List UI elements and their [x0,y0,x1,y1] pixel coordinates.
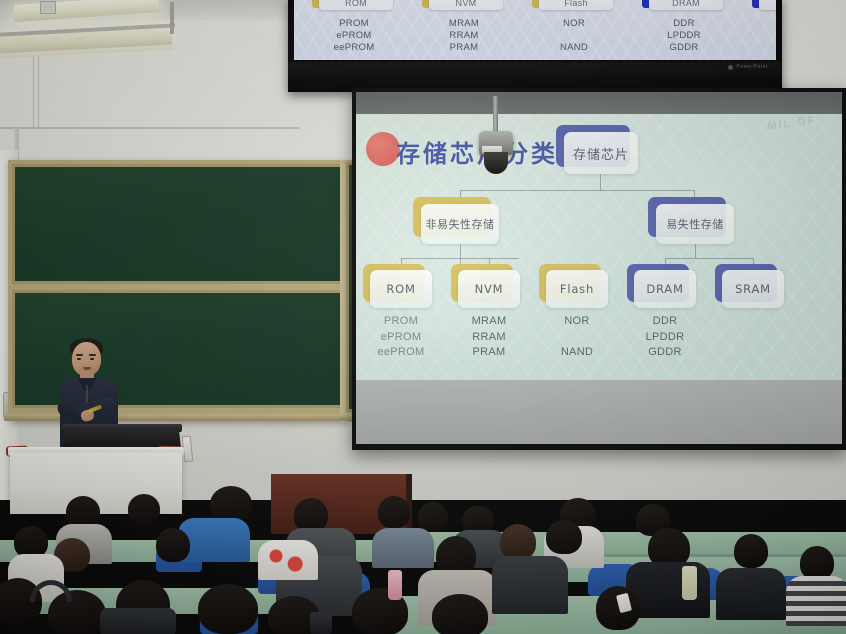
tree-leaf-sublabels: MRAMRRAMPRAM [446,314,532,361]
tree-node: SRAM [722,270,784,308]
student-torso [716,568,786,620]
monitor-card: ROM [319,0,393,10]
projection-screen: MIL OF 存储芯片分类 存储芯片非易失性存储易失性存储ROMPROMePRO… [352,88,846,450]
student-head [500,524,536,560]
water-bottle [388,570,402,600]
monitor-card-sublabels: DDRLPDDRGDDR [638,18,730,54]
camera-mount-pole [493,96,498,134]
monitor-card: DRAM [649,0,723,10]
monitor-card-sublabels: PROMePROMeePROM [308,18,400,54]
lecturer-eye-left [77,358,81,360]
monitor-card: SRAM [759,0,776,10]
student-torso [492,556,568,614]
tree-node: NVM [458,270,520,308]
tree-connector [460,244,461,258]
wall-seam [38,56,39,128]
lecturer-eye-right [90,358,94,360]
student-head [596,586,640,630]
projection-bottom-band [356,380,842,444]
monitor-brand-label: PowerPoint [728,64,768,70]
student-torso-striped [786,576,846,626]
projection-surface: MIL OF 存储芯片分类 存储芯片非易失性存储易失性存储ROMPROMePRO… [356,92,842,444]
student-head [432,594,488,634]
slide-title: 存储芯片分类 [396,134,558,169]
tree-leaf-sublabels: PROMePROMeePROM [358,314,444,361]
projection-top-band [356,92,842,114]
classroom-scene: ROMNVMFlashDRAMSRAM PROMePROMeePROMMRAMR… [0,0,846,634]
monitor-card-row: ROMNVMFlashDRAMSRAM [294,0,776,18]
student-head [210,486,252,522]
tree-node: 非易失性存储 [421,204,499,244]
student-head [800,546,834,580]
chalkboard-panel-top [12,164,344,284]
tree-leaf-sublabels: DDRLPDDRGDDR [622,314,708,361]
conduit-vertical [170,2,174,34]
student-head [198,584,258,634]
tree-connector [600,190,695,191]
monitor-brand-text: PowerPoint [736,64,768,70]
student-head [546,520,582,554]
tree-node: ROM [370,270,432,308]
lecturer-brow-left [76,354,83,356]
monitor-card: Flash [539,0,613,10]
tree-leaf-sublabels: NOR NAND [534,314,620,361]
powerpoint-icon [728,65,733,70]
audience-area [0,484,846,634]
student-torso-patterned [258,540,318,580]
monitor-card-sublabels: NOR NAND [528,18,620,54]
tree-connector [600,174,601,190]
lecturer-placket [86,385,88,402]
student-torso [372,528,434,568]
slide-title-bullet-icon [366,132,400,166]
tree-node: 存储芯片 [564,132,638,174]
student-head [156,528,190,562]
tree-node: Flash [546,270,608,308]
monitor-card-sublabels [748,18,776,54]
water-bottle [682,566,697,600]
student-head [128,494,160,524]
monitor-card-sublabels: MRAMRRAMPRAM [418,18,510,54]
tree-connector [665,258,754,259]
backpack [100,608,176,634]
tree-connector [460,190,601,191]
tree-node: DRAM [634,270,696,308]
student-head [734,534,768,568]
tree-leaf-sublabels [710,314,796,361]
student-head [418,502,448,532]
lecturer-brow-right [89,354,96,356]
tree-node: 易失性存储 [656,204,734,244]
student-head [294,498,328,532]
tree-connector [695,244,696,258]
wall-monitor-screen: ROMNVMFlashDRAMSRAM PROMePROMeePROMMRAMR… [294,0,776,60]
wall-trim-line [0,127,300,129]
ceiling-socket [40,1,56,14]
presentation-slide: MIL OF 存储芯片分类 存储芯片非易失性存储易失性存储ROMPROMePRO… [356,114,842,390]
thermos [310,612,332,634]
student-head [378,496,410,528]
wall-monitor: ROMNVMFlashDRAMSRAM PROMePROMeePROMMRAMR… [288,0,782,92]
monitor-card: NVM [429,0,503,10]
wall-seam [33,56,34,128]
